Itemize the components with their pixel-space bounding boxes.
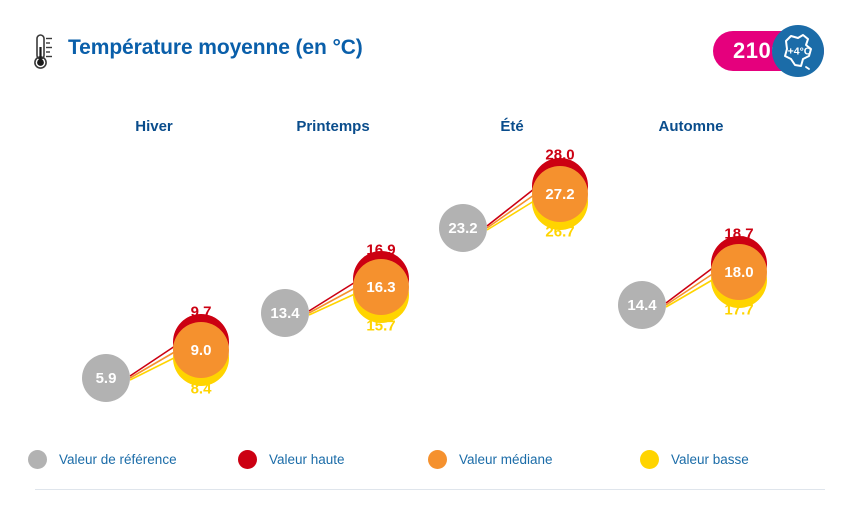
reference-value-hiver[interactable]: 5.9 xyxy=(82,354,130,402)
legend-dot-low-icon xyxy=(640,450,659,469)
season-label-automne: Automne xyxy=(659,118,724,135)
chart-legend: Valeur de référence Valeur haute Valeur … xyxy=(0,440,852,480)
bottom-divider xyxy=(35,489,825,490)
legend-item-high[interactable]: Valeur haute xyxy=(238,450,345,469)
legend-label-reference: Valeur de référence xyxy=(59,452,177,467)
reference-value-ete[interactable]: 23.2 xyxy=(439,204,487,252)
legend-label-low: Valeur basse xyxy=(671,452,749,467)
legend-item-median[interactable]: Valeur médiane xyxy=(428,450,553,469)
high-value-automne: 18.7 xyxy=(724,226,753,243)
season-label-printemps: Printemps xyxy=(296,118,369,135)
low-value-ete: 26.7 xyxy=(545,224,574,241)
season-label-ete: Été xyxy=(500,118,523,135)
legend-label-high: Valeur haute xyxy=(269,452,345,467)
legend-item-low[interactable]: Valeur basse xyxy=(640,450,749,469)
page-header: Température moyenne (en °C) 2100 +4°C xyxy=(0,0,852,92)
low-value-printemps: 15.7 xyxy=(366,318,395,335)
season-label-hiver: Hiver xyxy=(135,118,173,135)
page-title: Température moyenne (en °C) xyxy=(68,36,363,60)
legend-dot-reference-icon xyxy=(28,450,47,469)
low-value-hiver: 8.4 xyxy=(191,381,212,398)
median-value-hiver[interactable]: 9.0 xyxy=(173,322,229,378)
legend-dot-high-icon xyxy=(238,450,257,469)
seasons-chart: Hiver 5.9 9.0 9.7 8.4 Printemps 13.4 16.… xyxy=(0,92,852,437)
reference-value-printemps[interactable]: 13.4 xyxy=(261,289,309,337)
high-value-hiver: 9.7 xyxy=(191,304,212,321)
legend-dot-median-icon xyxy=(428,450,447,469)
high-value-printemps: 16.9 xyxy=(366,242,395,259)
low-value-automne: 17.7 xyxy=(724,302,753,319)
median-value-automne[interactable]: 18.0 xyxy=(711,244,767,300)
high-value-ete: 28.0 xyxy=(545,147,574,164)
reference-value-automne[interactable]: 14.4 xyxy=(618,281,666,329)
thermometer-icon xyxy=(32,33,56,71)
median-value-printemps[interactable]: 16.3 xyxy=(353,259,409,315)
legend-item-reference[interactable]: Valeur de référence xyxy=(28,450,177,469)
france-map-icon: +4°C xyxy=(772,25,824,77)
legend-label-median: Valeur médiane xyxy=(459,452,553,467)
scenario-text: +4°C xyxy=(788,46,812,58)
median-value-ete[interactable]: 27.2 xyxy=(532,166,588,222)
year-scenario-badge[interactable]: 2100 +4°C xyxy=(713,29,824,73)
